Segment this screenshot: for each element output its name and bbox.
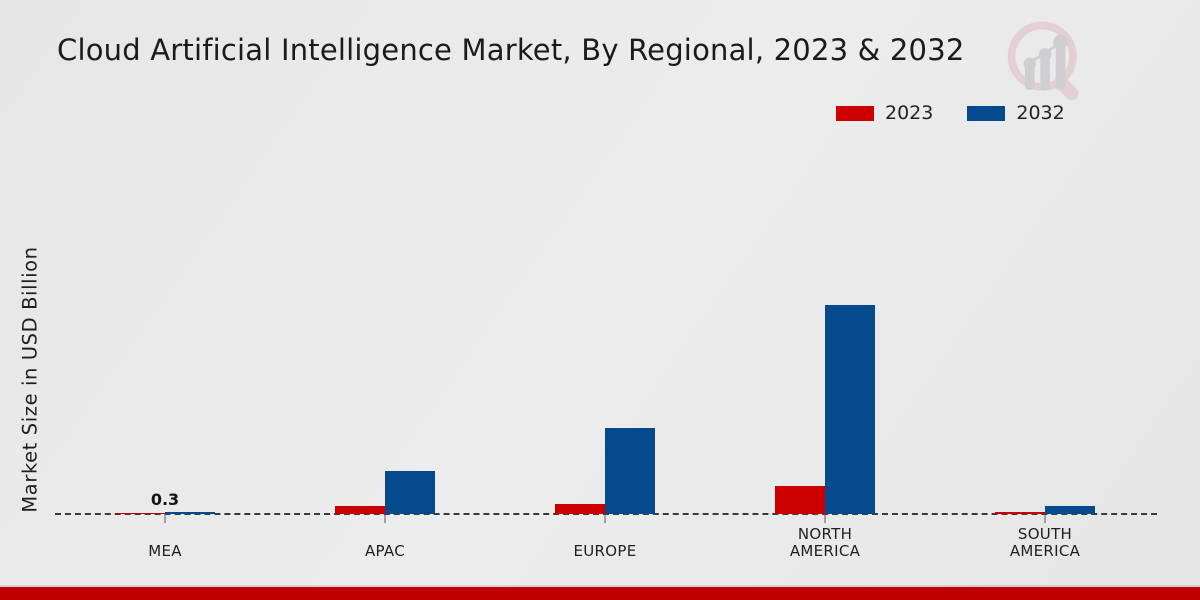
bar-mea-2032[interactable] [165, 512, 215, 514]
legend-label-2032: 2032 [1016, 104, 1064, 123]
bars-europe [495, 130, 715, 514]
chart-legend: 2023 2032 [836, 104, 1065, 123]
bar-north-america-2032[interactable] [825, 305, 875, 514]
category-label-north-america: NORTH AMERICA [790, 526, 860, 560]
bars-mea [55, 130, 275, 514]
tick-north-america [825, 514, 826, 523]
bar-group-north-america: NORTH AMERICA [715, 130, 935, 514]
bar-europe-2023[interactable] [555, 504, 605, 514]
tick-mea [165, 514, 166, 523]
market-research-logo-watermark [1000, 14, 1096, 110]
bar-group-south-america: SOUTH AMERICA [935, 130, 1155, 514]
chart-canvas: Cloud Artificial Intelligence Market, By… [0, 0, 1200, 600]
tick-apac [385, 514, 386, 523]
category-label-apac: APAC [365, 543, 405, 560]
bars-apac [275, 130, 495, 514]
chart-title: Cloud Artificial Intelligence Market, By… [57, 33, 965, 67]
tick-south-america [1045, 514, 1046, 523]
bars-south-america [935, 130, 1155, 514]
legend-swatch-blue-icon [967, 106, 1005, 121]
legend-label-2023: 2023 [885, 104, 933, 123]
bars-north-america [715, 130, 935, 514]
bar-europe-2032[interactable] [605, 428, 655, 514]
bar-group-europe: EUROPE [495, 130, 715, 514]
bar-apac-2023[interactable] [335, 506, 385, 514]
bar-groups-container: 0.3 MEA APAC [55, 130, 1155, 514]
bar-mea-2023[interactable] [115, 513, 165, 514]
category-label-mea: MEA [148, 543, 182, 560]
y-axis-label: Market Size in USD Billion [19, 195, 42, 565]
bar-group-apac: APAC [275, 130, 495, 514]
category-label-south-america: SOUTH AMERICA [1010, 526, 1080, 560]
footer-accent-bar [0, 587, 1200, 600]
bar-south-america-2023[interactable] [995, 512, 1045, 514]
legend-item-2023[interactable]: 2023 [836, 104, 933, 123]
tick-europe [605, 514, 606, 523]
legend-item-2032[interactable]: 2032 [967, 104, 1064, 123]
category-label-europe: EUROPE [573, 543, 636, 560]
legend-swatch-red-icon [836, 106, 874, 121]
bar-group-mea: 0.3 MEA [55, 130, 275, 514]
bar-south-america-2032[interactable] [1045, 506, 1095, 514]
bar-north-america-2023[interactable] [775, 486, 825, 514]
bar-apac-2032[interactable] [385, 471, 435, 514]
